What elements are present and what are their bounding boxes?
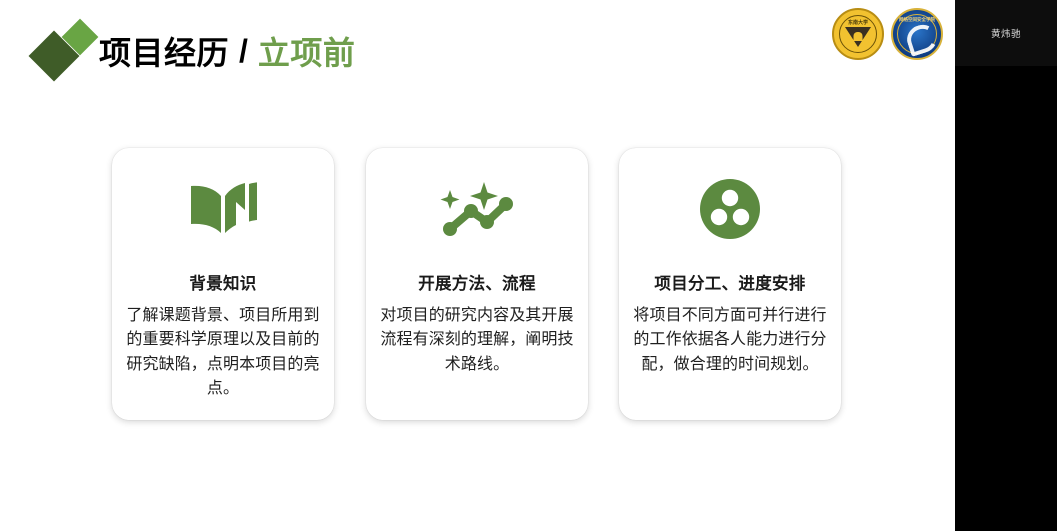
participant-name-label: 黄炜驰	[991, 26, 1021, 40]
info-card-body: 将项目不同方面可并行进行的工作依据各人能力进行分配，做合理的时间规划。	[619, 304, 841, 377]
blue-logo-ring-text: 网络空间安全学院	[899, 17, 935, 23]
open-book-icon	[177, 175, 269, 243]
video-conference-panel: 黄炜驰	[955, 0, 1057, 531]
info-card-title: 项目分工、进度安排	[654, 270, 805, 294]
seu-logo-gate-icon	[854, 32, 863, 41]
page-title-main: 项目经历	[99, 28, 229, 74]
sparkle-line-chart-icon	[431, 175, 523, 243]
info-card-body: 了解课题背景、项目所用到的重要科学原理以及目前的研究缺陷，点明本项目的亮点。	[112, 304, 334, 401]
diamond-pair-logo	[33, 18, 101, 82]
page-title-separator: /	[239, 33, 248, 70]
page-title-accent: 立项前	[258, 28, 356, 74]
seu-logo-ring-text: 东南大学	[848, 19, 868, 26]
school-of-cyber-science-logo: 网络空间安全学院	[891, 8, 943, 60]
info-card[interactable]: 开展方法、流程 对项目的研究内容及其开展流程有深刻的理解，阐明技术路线。	[366, 148, 588, 420]
slide-header: 项目经历 / 立项前 东南大学 网络空间安全学院	[0, 0, 955, 96]
info-card-title: 背景知识	[189, 270, 256, 294]
card-row: 背景知识 了解课题背景、项目所用到的重要科学原理以及目前的研究缺陷，点明本项目的…	[112, 148, 842, 420]
info-card-body: 对项目的研究内容及其开展流程有深刻的理解，阐明技术路线。	[366, 304, 588, 377]
page-title: 项目经历 / 立项前	[99, 26, 355, 76]
slide-canvas: 项目经历 / 立项前 东南大学 网络空间安全学院	[0, 0, 955, 531]
southeast-university-logo: 东南大学	[832, 8, 884, 60]
three-dot-circle-icon	[684, 175, 776, 243]
info-card[interactable]: 项目分工、进度安排 将项目不同方面可并行进行的工作依据各人能力进行分配，做合理的…	[619, 148, 841, 420]
info-card-title: 开展方法、流程	[418, 270, 536, 294]
institution-logos: 东南大学 网络空间安全学院	[832, 8, 943, 60]
info-card[interactable]: 背景知识 了解课题背景、项目所用到的重要科学原理以及目前的研究缺陷，点明本项目的…	[112, 148, 334, 420]
participant-video-tile[interactable]: 黄炜驰	[955, 0, 1057, 66]
